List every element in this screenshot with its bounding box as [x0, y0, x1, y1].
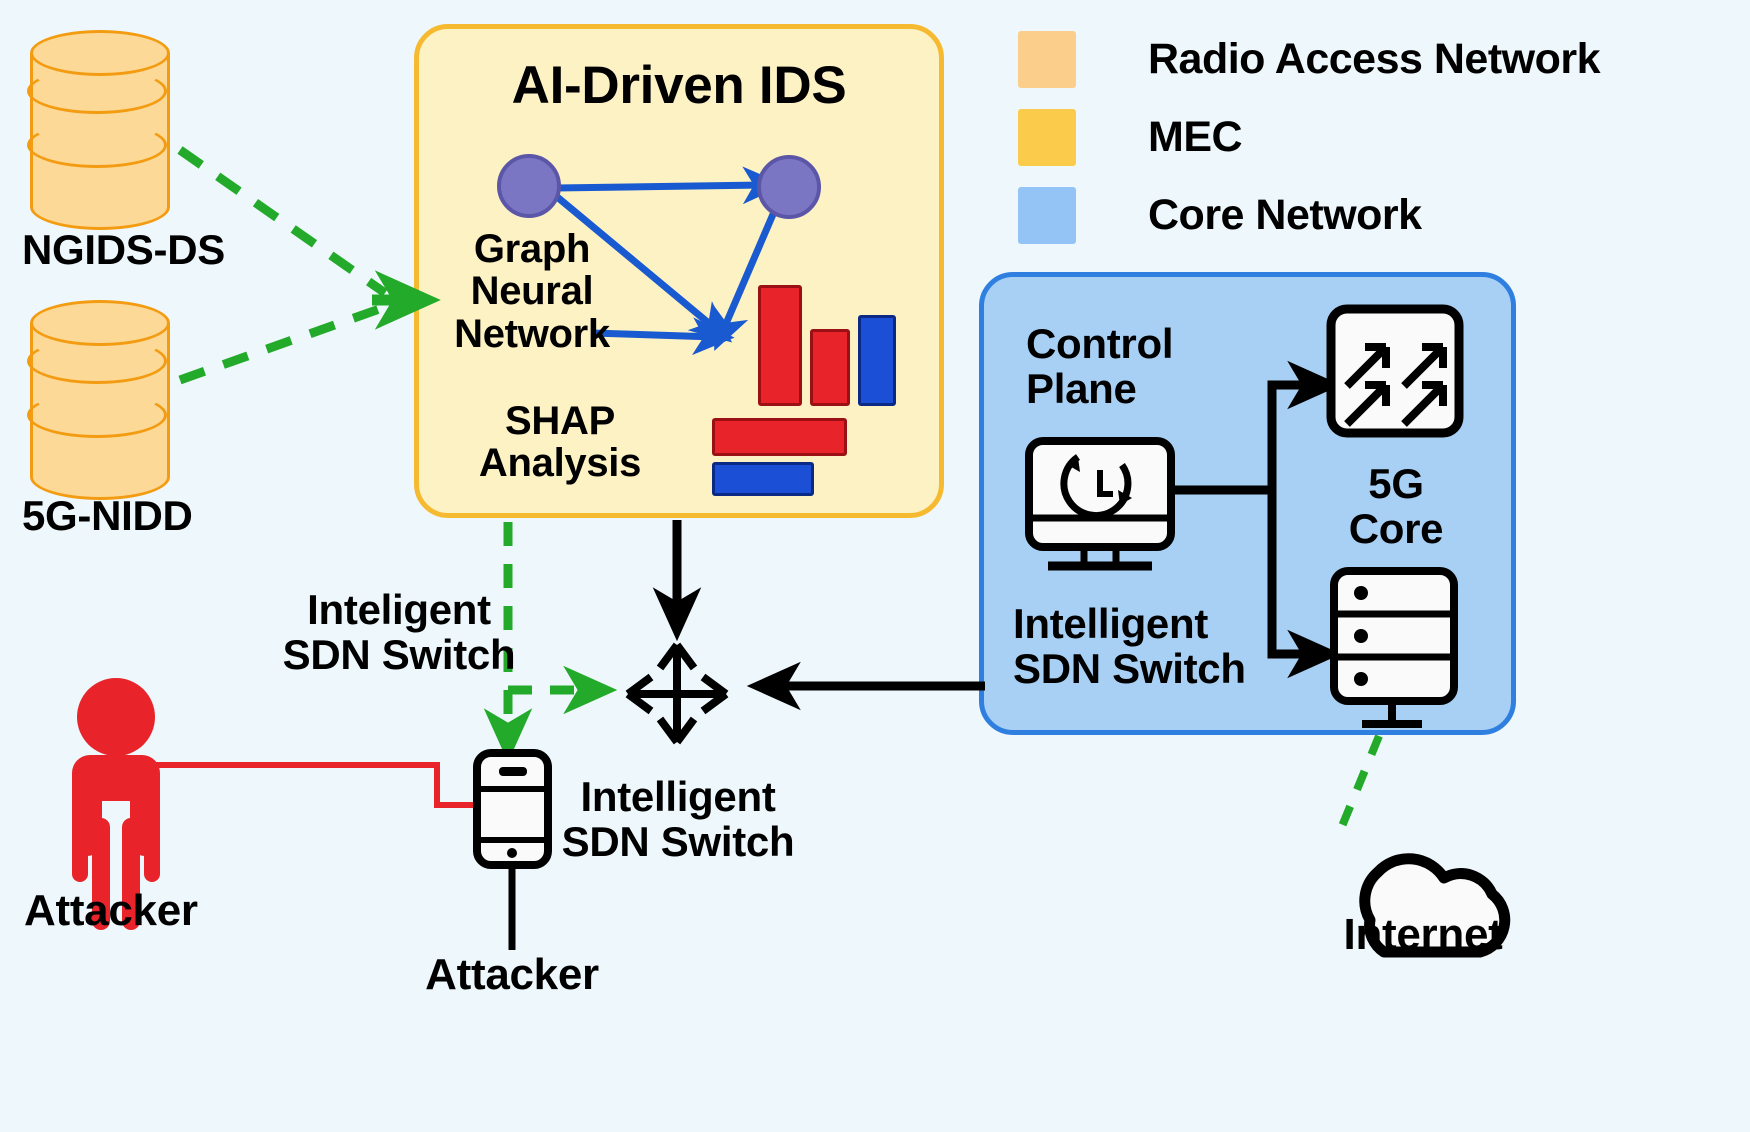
- legend-label-core-network: Core Network: [1148, 191, 1422, 240]
- legend-swatch-mec: [1018, 109, 1076, 166]
- server-rack-icon: [1334, 571, 1454, 701]
- attacker-to-phone-line: [155, 765, 477, 805]
- sdn-switch-cross-icon: [628, 645, 726, 742]
- attacker-phone-label: Attacker: [390, 952, 634, 999]
- attacker-person-label: Attacker: [24, 888, 198, 935]
- dataset-ngids-ds-label: NGIDS-DS: [22, 228, 225, 273]
- shap-bar-h1: [712, 418, 847, 456]
- ai-driven-ids-title: AI-Driven IDS: [414, 58, 944, 114]
- mec-sdn-switch-label: Inteligent SDN Switch: [272, 588, 526, 677]
- legend: Radio Access Network MEC Core Network: [1018, 20, 1600, 254]
- legend-label-mec: MEC: [1148, 113, 1242, 162]
- control-plane-label: Control Plane: [1026, 322, 1173, 411]
- legend-swatch-core-network: [1018, 187, 1076, 244]
- legend-item-core-network: Core Network: [1018, 176, 1600, 254]
- legend-swatch-radio-access-network: [1018, 31, 1076, 88]
- legend-item-radio-access-network: Radio Access Network: [1018, 20, 1600, 98]
- shap-bar-v2: [810, 329, 850, 406]
- shap-bar-v3: [858, 315, 896, 406]
- dataset-5g-nidd-label: 5G-NIDD: [22, 494, 193, 539]
- attacker-phone-icon: [477, 753, 548, 865]
- gnn-node-left: [499, 156, 559, 216]
- gnn-label: Graph Neural Network: [436, 228, 628, 355]
- dataset-ngids-ds-cylinder: [30, 30, 170, 230]
- shap-analysis-label: SHAP Analysis: [462, 400, 658, 485]
- diagram-canvas: NGIDS-DS 5G-NIDD AI-Driven IDS Graph Neu…: [0, 0, 1750, 1132]
- dataset-5g-nidd-cylinder: [30, 300, 170, 500]
- legend-item-mec: MEC: [1018, 98, 1600, 176]
- five-g-core-switch-icon: [1331, 309, 1459, 433]
- core-to-internet-flow: [1338, 736, 1379, 836]
- gnn-node-right: [759, 157, 819, 217]
- legend-label-radio-access-network: Radio Access Network: [1148, 35, 1600, 84]
- shap-bar-chart: [700, 285, 890, 475]
- control-plane-monitor-icon: [1029, 441, 1171, 566]
- five-g-core-label: 5G Core: [1312, 462, 1480, 551]
- shap-bar-h2: [712, 462, 814, 496]
- shap-bar-v1: [758, 285, 802, 406]
- center-sdn-switch-label: Intelligent SDN Switch: [548, 775, 808, 864]
- core-sdn-switch-label: Intelligent SDN Switch: [1013, 602, 1246, 691]
- internet-label: Internet: [1308, 912, 1538, 959]
